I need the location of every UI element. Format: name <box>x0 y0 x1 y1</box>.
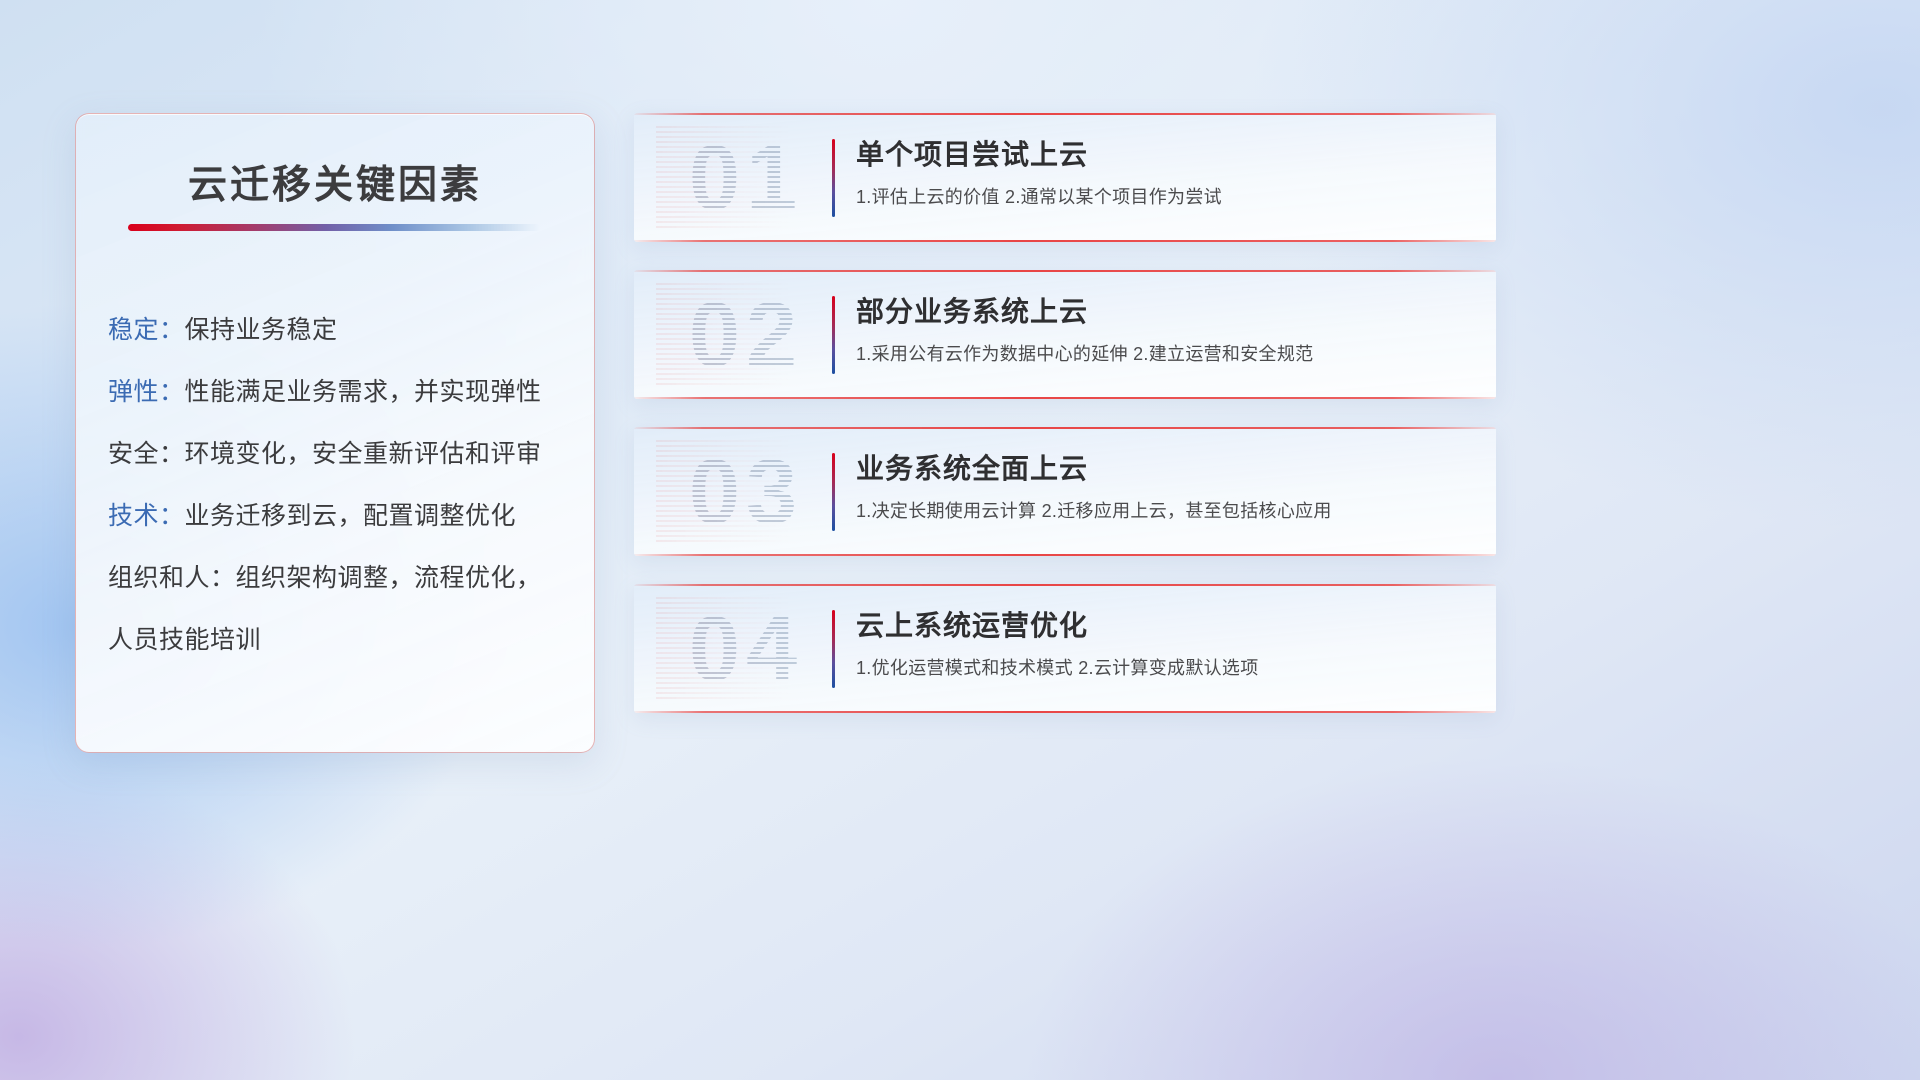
list-item-text: 组织架构调整，流程优化， <box>236 564 542 592</box>
list-item: 人员技能培训 <box>108 609 576 671</box>
stage-card-body: 云上系统运营优化 1.优化运营模式和技术模式 2.云计算变成默认选项 <box>856 606 1478 681</box>
stage-card-01[interactable]: 01 单个项目尝试上云 1.评估上云的价值 2.通常以某个项目作为尝试 <box>634 113 1496 242</box>
accent-bar-icon <box>832 296 835 374</box>
stage-card-04[interactable]: 04 云上系统运营优化 1.优化运营模式和技术模式 2.云计算变成默认选项 <box>634 584 1496 713</box>
stage-card-body: 业务系统全面上云 1.决定长期使用云计算 2.迁移应用上云，甚至包括核心应用 <box>856 449 1478 524</box>
migration-stages-list: 01 单个项目尝试上云 1.评估上云的价值 2.通常以某个项目作为尝试 02 部… <box>634 113 1496 741</box>
list-item-label: 技术： <box>108 502 185 530</box>
list-item-label: 稳定： <box>108 316 185 344</box>
stage-number-watermark: 03 <box>656 440 836 544</box>
list-item-text: 人员技能培训 <box>108 626 261 654</box>
list-item-text: 业务迁移到云，配置调整优化 <box>185 502 517 530</box>
stage-title: 单个项目尝试上云 <box>856 135 1478 175</box>
title-underline-accent <box>128 224 540 231</box>
stage-title: 部分业务系统上云 <box>856 292 1478 332</box>
accent-bar-icon <box>832 453 835 531</box>
list-item-label: 弹性： <box>108 378 185 406</box>
list-item-label: 组织和人： <box>108 564 236 592</box>
stage-description: 1.决定长期使用云计算 2.迁移应用上云，甚至包括核心应用 <box>856 498 1478 524</box>
list-item: 组织和人：组织架构调整，流程优化， <box>108 547 576 609</box>
stage-card-03[interactable]: 03 业务系统全面上云 1.决定长期使用云计算 2.迁移应用上云，甚至包括核心应… <box>634 427 1496 556</box>
list-item-label: 安全： <box>108 440 185 468</box>
key-factors-list: 稳定：保持业务稳定 弹性：性能满足业务需求，并实现弹性 安全：环境变化，安全重新… <box>108 299 576 671</box>
stage-number-watermark: 02 <box>656 283 836 387</box>
stage-description: 1.评估上云的价值 2.通常以某个项目作为尝试 <box>856 184 1478 210</box>
stage-description: 1.采用公有云作为数据中心的延伸 2.建立运营和安全规范 <box>856 341 1478 367</box>
list-item-text: 保持业务稳定 <box>185 316 338 344</box>
stage-number-watermark: 04 <box>656 597 836 701</box>
list-item-text: 性能满足业务需求，并实现弹性 <box>185 378 542 406</box>
stage-card-body: 部分业务系统上云 1.采用公有云作为数据中心的延伸 2.建立运营和安全规范 <box>856 292 1478 367</box>
stage-number-watermark: 01 <box>656 126 836 230</box>
accent-bar-icon <box>832 139 835 217</box>
list-item-text: 环境变化，安全重新评估和评审 <box>185 440 542 468</box>
stage-card-02[interactable]: 02 部分业务系统上云 1.采用公有云作为数据中心的延伸 2.建立运营和安全规范 <box>634 270 1496 399</box>
stage-title: 云上系统运营优化 <box>856 606 1478 646</box>
list-item: 稳定：保持业务稳定 <box>108 299 576 361</box>
list-item: 弹性：性能满足业务需求，并实现弹性 <box>108 361 576 423</box>
accent-bar-icon <box>832 610 835 688</box>
stage-description: 1.优化运营模式和技术模式 2.云计算变成默认选项 <box>856 655 1478 681</box>
list-item: 技术：业务迁移到云，配置调整优化 <box>108 485 576 547</box>
stage-card-body: 单个项目尝试上云 1.评估上云的价值 2.通常以某个项目作为尝试 <box>856 135 1478 210</box>
stage-title: 业务系统全面上云 <box>856 449 1478 489</box>
list-item: 安全：环境变化，安全重新评估和评审 <box>108 423 576 485</box>
key-factors-panel: 云迁移关键因素 稳定：保持业务稳定 弹性：性能满足业务需求，并实现弹性 安全：环… <box>75 113 595 753</box>
page-title: 云迁移关键因素 <box>76 154 594 210</box>
